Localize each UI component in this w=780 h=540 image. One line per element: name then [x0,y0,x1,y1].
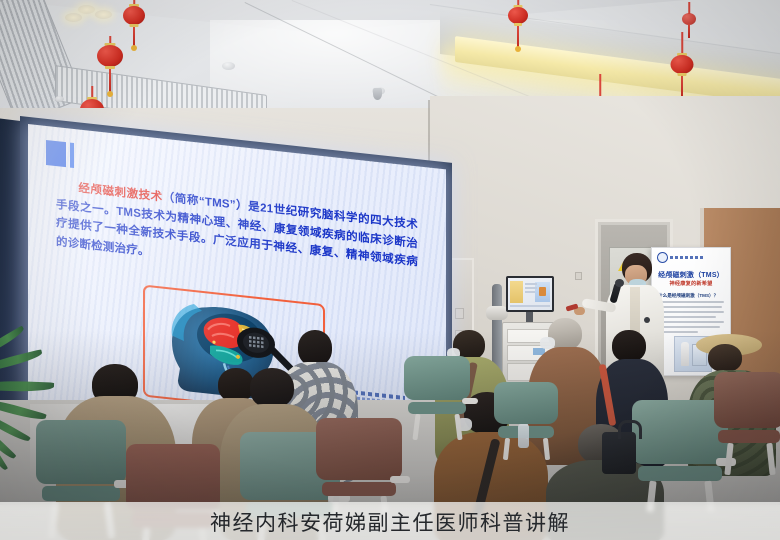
ceiling-sensor [55,96,64,102]
water-bottle [518,424,529,448]
hospital-name-text [670,256,704,259]
smoke-detector [222,62,235,70]
banner-photo-person [681,342,689,366]
downlight [95,10,112,19]
handbag-handle [618,420,642,439]
caption-text: 神经内科安荷娣副主任医师科普讲解 [0,503,780,540]
sprinkler-head [373,88,382,100]
banner-body-text [658,301,724,336]
tms-coil-head [486,306,508,320]
wall-marking [575,272,582,280]
microphone-head [615,279,624,287]
downlight [65,13,82,22]
banner-question: 什么是经颅磁刺激（TMS）？ [658,293,718,299]
downlight [78,5,95,14]
auditorium-chair[interactable] [404,356,470,440]
photo-scene: 经颅磁刺激技术（简称“TMS”）是21世纪研究脑科学的四大技术手段之一。TMS技… [0,0,780,540]
tms-software-monitor [506,276,554,312]
monitor-amber-panel [510,281,523,303]
coat-badge [644,317,650,323]
monitor-screen [508,278,552,310]
auditorium-chair[interactable] [714,372,780,478]
monitor-blue-panel [535,282,550,302]
auditorium-chair[interactable] [494,382,558,460]
wall-outlet [455,308,464,319]
